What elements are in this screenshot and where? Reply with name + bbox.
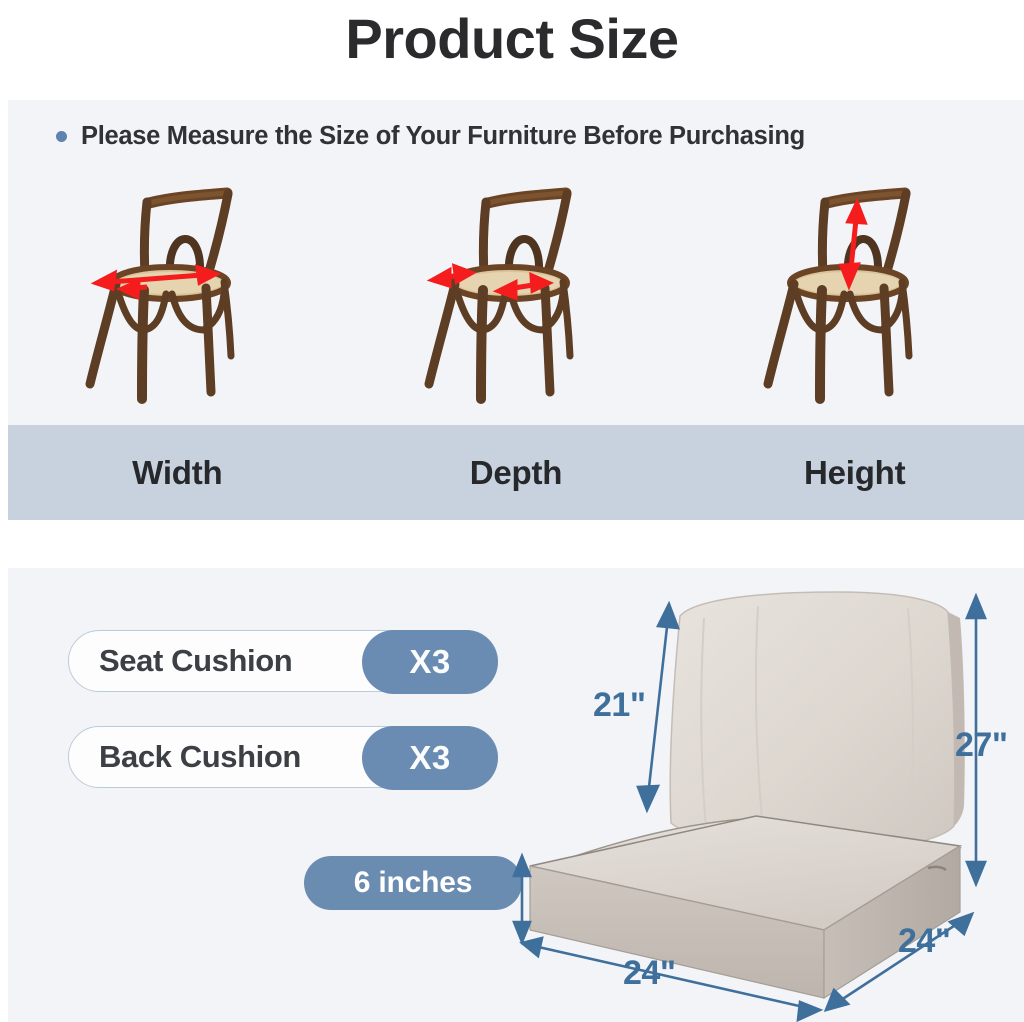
- thickness-pill: 6 inches: [304, 856, 522, 910]
- dimension-back-height: 21": [593, 686, 645, 725]
- dimension-seat-width: 24": [623, 954, 675, 993]
- label-height: Height: [685, 425, 1024, 520]
- cushion-figure: 21" 27" 24" 24": [508, 578, 1024, 1022]
- chair-height-diagram-icon: [730, 170, 980, 420]
- label-width-text: Width: [132, 454, 222, 492]
- measure-note: Please Measure the Size of Your Furnitur…: [56, 122, 805, 151]
- back-cushion-label: Back Cushion: [69, 739, 301, 775]
- label-height-text: Height: [804, 454, 905, 492]
- seat-cushion-quantity-badge: X3: [362, 630, 498, 694]
- chair-width-diagram-icon: [52, 170, 302, 420]
- product-size-infographic: Product Size Please Measure the Size of …: [0, 0, 1024, 1022]
- label-width: Width: [8, 425, 347, 520]
- dimension-overall-height: 27": [955, 726, 1007, 765]
- chair-depth-cell: [347, 170, 686, 420]
- chair-height-cell: [685, 170, 1024, 420]
- chair-diagram-row: [8, 170, 1024, 420]
- label-depth-text: Depth: [470, 454, 563, 492]
- dimension-label-band: Width Depth Height: [8, 425, 1024, 520]
- back-cushion-quantity-badge: X3: [362, 726, 498, 790]
- measure-note-text: Please Measure the Size of Your Furnitur…: [81, 122, 805, 151]
- bullet-dot-icon: [56, 131, 67, 142]
- chair-width-cell: [8, 170, 347, 420]
- label-depth: Depth: [347, 425, 686, 520]
- seat-cushion-pill: Seat Cushion X3: [68, 630, 498, 692]
- page-title: Product Size: [0, 2, 1024, 76]
- chair-depth-diagram-icon: [391, 170, 641, 420]
- seat-cushion-label: Seat Cushion: [69, 643, 292, 679]
- back-cushion-pill: Back Cushion X3: [68, 726, 498, 788]
- cushion-spec-panel: Seat Cushion X3 Back Cushion X3 6 inches: [8, 568, 1024, 1022]
- dimension-seat-depth: 24": [898, 922, 950, 961]
